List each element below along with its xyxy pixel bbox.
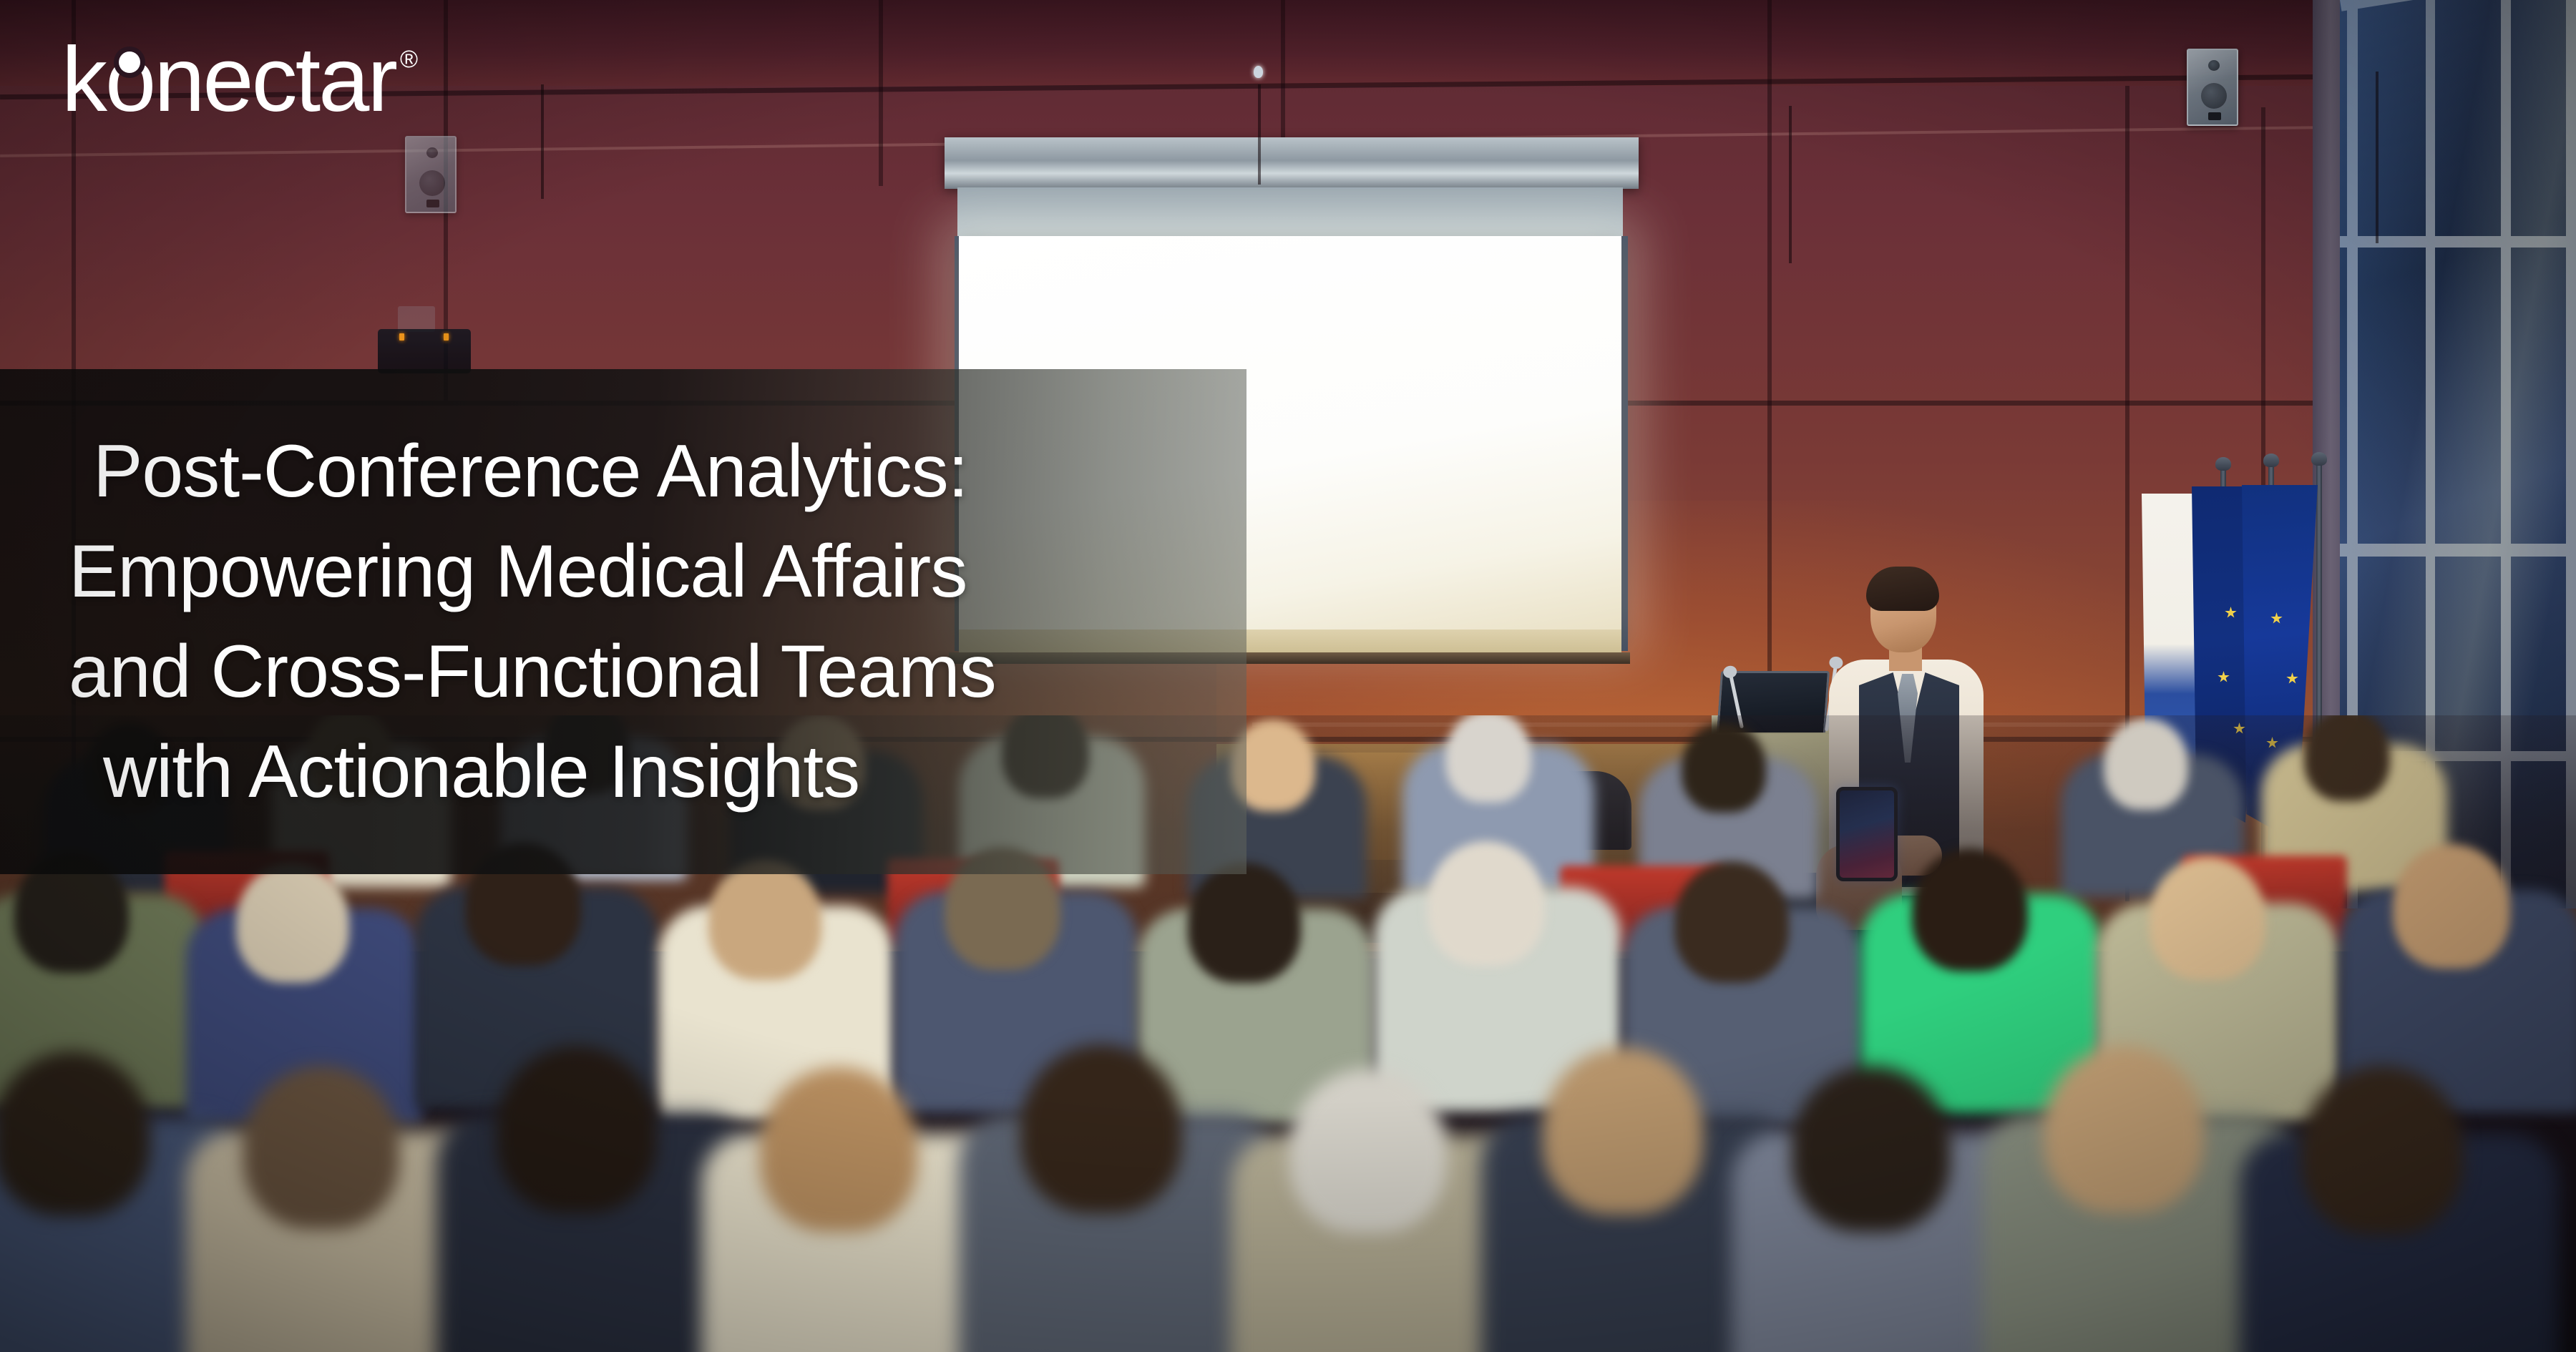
ceiling-cable bbox=[1789, 106, 1792, 263]
audience-head bbox=[1543, 1047, 1703, 1215]
audience-head bbox=[497, 1046, 657, 1213]
hero-title-block: Post-Conference Analytics: Empowering Me… bbox=[0, 369, 1246, 874]
audience-head bbox=[760, 1067, 917, 1232]
conference-banner: Post-Conference Analytics: Empowering Me… bbox=[0, 0, 2576, 1352]
audience-head bbox=[0, 1052, 150, 1216]
ceiling-cable bbox=[1258, 84, 1261, 185]
audience-head bbox=[1020, 1044, 1182, 1213]
hero-title-line-3: and Cross-Functional Teams bbox=[69, 622, 1215, 722]
audience-head bbox=[1445, 715, 1531, 803]
audience-head bbox=[1682, 722, 1766, 813]
audience-head bbox=[2150, 857, 2265, 980]
ceiling-cable bbox=[541, 84, 544, 199]
audience-head bbox=[2393, 844, 2510, 969]
av-equipment bbox=[398, 306, 435, 332]
audience-head bbox=[708, 860, 821, 980]
audience-head bbox=[1792, 1066, 1951, 1232]
audience-head bbox=[2304, 715, 2390, 801]
projector-screen-housing bbox=[945, 137, 1639, 189]
audience-head bbox=[1428, 841, 1545, 966]
eu-star bbox=[2218, 671, 2230, 683]
ceiling-fixture bbox=[1254, 66, 1263, 78]
audience-head bbox=[1674, 861, 1789, 983]
speaker-port bbox=[2208, 112, 2221, 120]
registered-trademark-icon: ® bbox=[400, 47, 418, 72]
screen-edge bbox=[1621, 236, 1628, 651]
eu-star bbox=[2270, 612, 2283, 624]
konectar-logo[interactable]: konectar ® bbox=[62, 34, 418, 126]
speaker-port bbox=[426, 200, 439, 207]
led-indicator bbox=[399, 333, 404, 341]
wall-speaker-icon bbox=[2187, 49, 2238, 126]
audience-head bbox=[243, 1066, 399, 1229]
led-indicator bbox=[444, 333, 449, 341]
logo-o-dot bbox=[119, 52, 140, 73]
audience-head bbox=[2301, 1066, 2463, 1235]
eu-star bbox=[2225, 607, 2237, 619]
hero-title-line-2: Empowering Medical Affairs bbox=[69, 521, 1215, 622]
audience-head bbox=[1912, 848, 2028, 971]
audience-head bbox=[236, 863, 349, 983]
audience-head bbox=[2044, 1046, 2204, 1213]
hero-title-line-4: with Actionable Insights bbox=[69, 722, 1215, 822]
audience-head bbox=[2104, 718, 2188, 810]
projector-screen-valance bbox=[957, 187, 1623, 239]
wall-seam-vertical bbox=[879, 0, 883, 186]
logo-wordmark: konectar bbox=[62, 34, 396, 126]
audience-head bbox=[1289, 1069, 1447, 1233]
ceiling-cable bbox=[2376, 72, 2379, 243]
hero-title-line-1: Post-Conference Analytics: bbox=[69, 421, 1215, 521]
presenter-hair bbox=[1866, 567, 1939, 611]
wall-seam-vertical bbox=[1281, 0, 1285, 150]
wall-speaker-icon bbox=[405, 136, 457, 213]
eu-star bbox=[2286, 672, 2298, 685]
audience-head bbox=[1188, 863, 1301, 983]
av-rack-box bbox=[378, 329, 471, 373]
